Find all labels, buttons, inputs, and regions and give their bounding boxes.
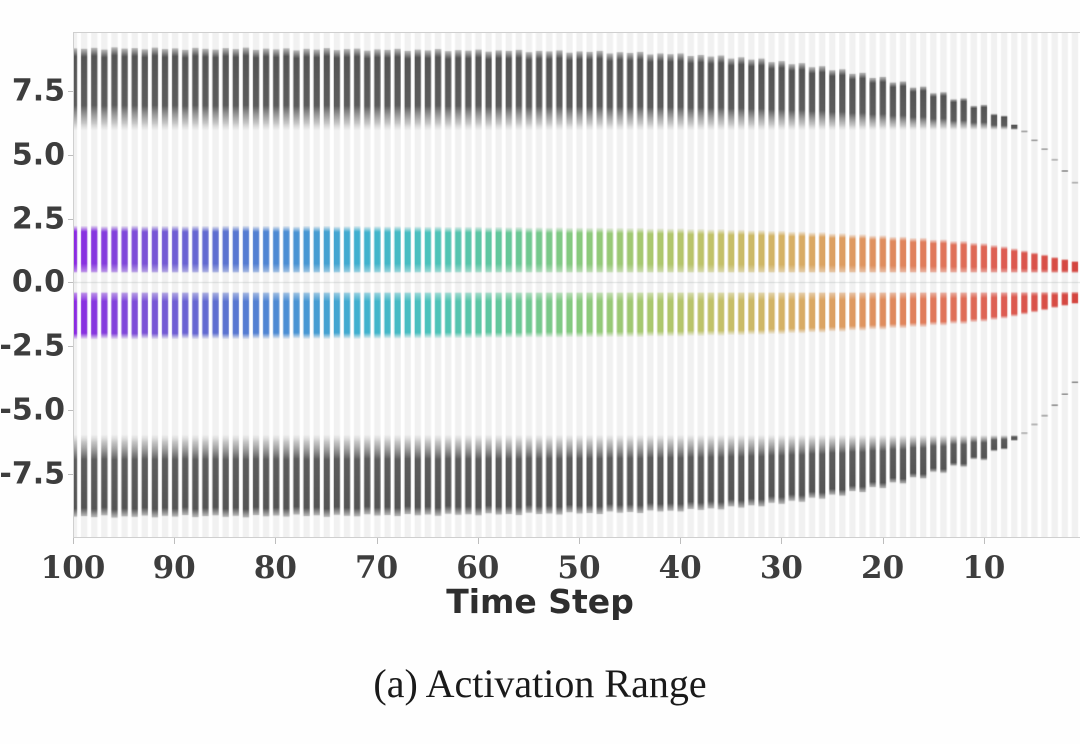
figure-panel: 7.55.02.50.0-2.5-5.0-7.5 100908070605040…: [0, 0, 1080, 744]
plot-area: [73, 32, 1080, 538]
x-tick-label: 80: [254, 550, 297, 586]
y-tick-label: -5.0: [0, 393, 65, 428]
y-tick-label: -2.5: [0, 329, 65, 364]
x-axis-label: Time Step: [0, 582, 1080, 621]
x-tick-mark: [680, 538, 681, 544]
x-tick-mark: [377, 538, 378, 544]
x-tick-label: 40: [659, 550, 702, 586]
y-axis: 7.55.02.50.0-2.5-5.0-7.5: [0, 0, 73, 744]
x-tick-mark: [275, 538, 276, 544]
x-tick-mark: [883, 538, 884, 544]
y-tick-label: -7.5: [0, 457, 65, 492]
x-tick-label: 70: [355, 550, 398, 586]
x-tick-mark: [781, 538, 782, 544]
x-tick-mark: [174, 538, 175, 544]
y-tick-label: 7.5: [12, 73, 65, 108]
y-tick-label: 5.0: [12, 137, 65, 172]
x-tick-mark: [73, 538, 74, 544]
x-tick-label: 20: [861, 550, 904, 586]
x-tick-label: 100: [41, 550, 106, 586]
figure-caption: (a) Activation Range: [0, 660, 1080, 707]
y-tick-label: 0.0: [12, 265, 65, 300]
x-tick-mark: [984, 538, 985, 544]
x-tick-label: 90: [153, 550, 196, 586]
x-tick-mark: [579, 538, 580, 544]
x-tick-label: 30: [760, 550, 803, 586]
x-tick-label: 50: [557, 550, 600, 586]
x-tick-label: 60: [456, 550, 499, 586]
activation-range-bars: [74, 33, 1080, 537]
x-tick-mark: [478, 538, 479, 544]
y-tick-label: 2.5: [12, 201, 65, 236]
x-tick-label: 10: [962, 550, 1005, 586]
